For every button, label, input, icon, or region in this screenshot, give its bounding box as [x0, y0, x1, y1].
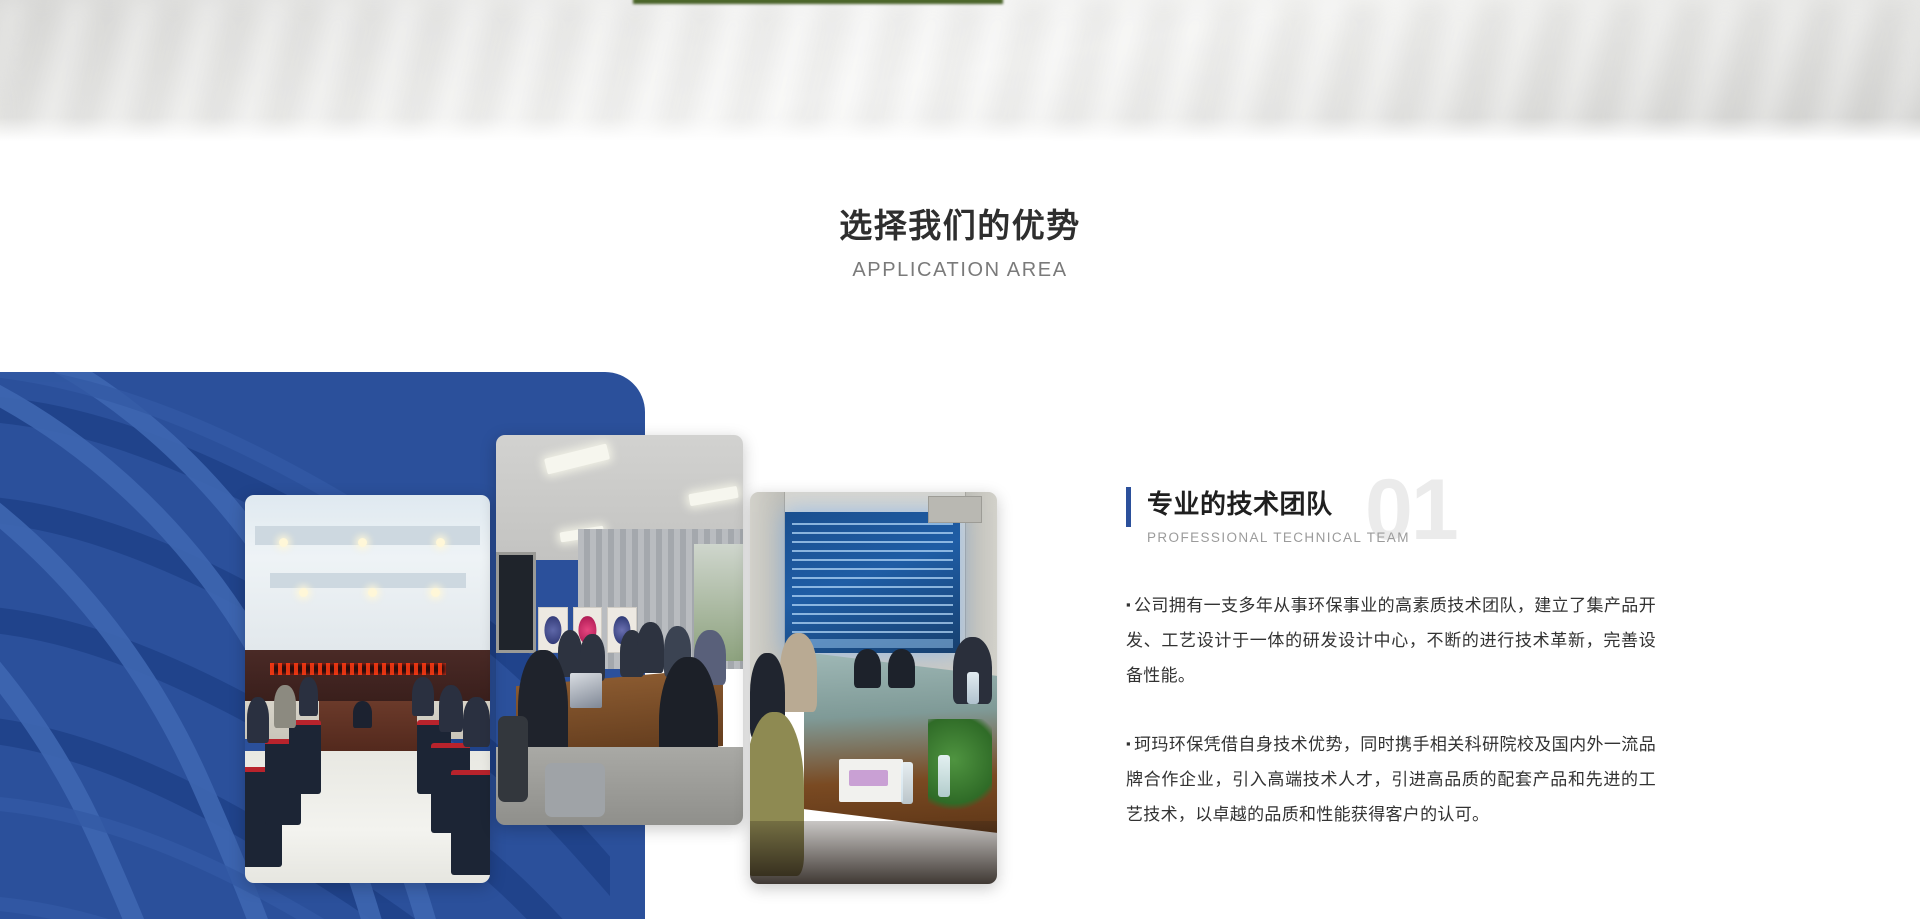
photo2-chair [498, 716, 528, 802]
photo1-attendee [274, 685, 296, 728]
photo3-attendee [780, 633, 817, 711]
gallery-photo-auditorium[interactable] [245, 495, 490, 883]
bullet-icon: ▪ [1126, 736, 1131, 751]
photo3-screen-taskbar [792, 639, 953, 649]
photo3-documents [849, 770, 889, 786]
photo1-attendee [299, 677, 319, 716]
photo1-led-text [270, 663, 446, 675]
photo1-seat [451, 770, 490, 875]
accent-bar [1126, 487, 1131, 527]
feature-paragraphs: ▪公司拥有一支多年从事环保事业的高素质技术团队，建立了集产品开发、工艺设计于一体… [1126, 587, 1656, 832]
page-subtitle: APPLICATION AREA [0, 259, 1920, 282]
photo3-air-vent [928, 496, 982, 523]
photo1-speaker [353, 701, 373, 728]
photo1-attendee [463, 697, 490, 747]
gallery-photo-presentation-room[interactable] [750, 492, 997, 884]
photo1-attendee [247, 697, 269, 744]
photo1-downlight [279, 538, 288, 547]
photo2-whiteboard [496, 552, 536, 653]
section-header: 选择我们的优势 APPLICATION AREA [0, 205, 1920, 282]
page-title: 选择我们的优势 [0, 205, 1920, 246]
hero-banner-strip [0, 0, 1920, 143]
photo2-attendee [637, 622, 664, 673]
photo1-downlight [299, 588, 308, 597]
feature-paragraph: ▪珂玛环保凭借自身技术优势，同时携手相关科研院校及国内外一流品牌合作企业，引入高… [1126, 726, 1656, 832]
hero-bottom-fade [0, 117, 1920, 143]
page-root: 选择我们的优势 APPLICATION AREA [0, 0, 1920, 919]
feature-heading-row: 01 专业的技术团队 PROFESSIONAL TECHNICAL TEAM [1126, 484, 1656, 545]
photo1-downlight [358, 538, 367, 547]
photo1-led-banner [270, 663, 446, 675]
feature-subtitle: PROFESSIONAL TECHNICAL TEAM [1147, 530, 1656, 545]
hero-grass-icon [633, 0, 1003, 4]
photo2-laptop [570, 673, 602, 708]
photo3-water-bottle [938, 755, 950, 797]
photo1-downlight [368, 588, 377, 597]
feature-block-01: 01 专业的技术团队 PROFESSIONAL TECHNICAL TEAM ▪… [1126, 484, 1656, 832]
photo3-water-bottle [967, 672, 979, 704]
photo3-foreground-shadow [750, 821, 997, 884]
photo3-projection-screen [785, 512, 960, 653]
feature-paragraph-text: 珂玛环保凭借自身技术优势，同时携手相关科研院校及国内外一流品牌合作企业，引入高端… [1126, 735, 1656, 824]
photo1-attendee [412, 677, 434, 716]
bullet-icon: ▪ [1126, 597, 1131, 612]
photo3-attendee [854, 649, 881, 688]
photo1-beam [255, 526, 480, 545]
photo3-screen-content [792, 523, 953, 639]
photo2-chair [545, 763, 604, 818]
photo3-attendee [888, 649, 915, 688]
photo1-seat [289, 720, 321, 794]
photo1-downlight [436, 538, 445, 547]
feature-title: 专业的技术团队 [1147, 484, 1656, 521]
gallery-photo-meeting-room[interactable] [496, 435, 743, 825]
photo1-beam [270, 573, 466, 589]
photo1-attendee [439, 685, 464, 732]
feature-paragraph: ▪公司拥有一支多年从事环保事业的高素质技术团队，建立了集产品开发、工艺设计于一体… [1126, 587, 1656, 693]
photo3-water-bottle [901, 762, 913, 804]
feature-paragraph-text: 公司拥有一支多年从事环保事业的高素质技术团队，建立了集产品开发、工艺设计于一体的… [1126, 596, 1656, 685]
photo2-floor [496, 747, 743, 825]
